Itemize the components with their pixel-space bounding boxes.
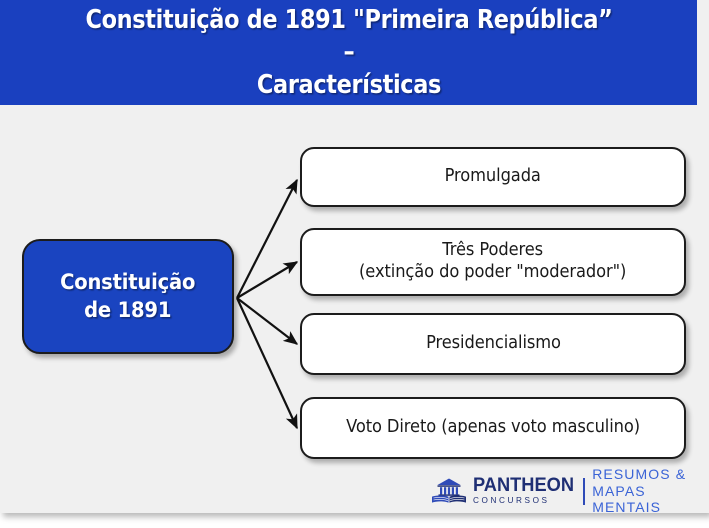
branch-node-label: Três Poderes (extinção do poder "moderad… (352, 240, 634, 284)
header-band: Constituição de 1891 "Primeira República… (0, 0, 697, 105)
mind-map-diagram: Constituição de 1891 Promulgada Três Pod… (0, 105, 697, 513)
slide-canvas: Constituição de 1891 "Primeira República… (0, 0, 709, 513)
branch-node-presidencialismo[interactable]: Presidencialismo (300, 313, 686, 375)
branch-node-promulgada[interactable]: Promulgada (300, 147, 686, 207)
pantheon-wordmark: PANTHEON CONCURSOS (473, 476, 578, 505)
brand-subname: CONCURSOS (473, 497, 578, 505)
pantheon-temple-book-icon (430, 477, 468, 505)
brand-logo: PANTHEON CONCURSOS RESUMOS & MAPAS MENTA… (430, 474, 692, 508)
root-node-label: Constituição de 1891 (60, 269, 195, 324)
branch-node-label: Presidencialismo (418, 333, 568, 355)
brand-tagline-line-2: MAPAS MENTAIS (592, 483, 692, 513)
brand-tagline-line-1: RESUMOS & (592, 466, 692, 483)
brand-name: PANTHEON (473, 476, 574, 495)
branch-node-voto-direto[interactable]: Voto Direto (apenas voto masculino) (300, 397, 686, 459)
connector-arrow-3 (237, 298, 297, 428)
root-node[interactable]: Constituição de 1891 (22, 239, 234, 354)
connector-arrow-2 (237, 298, 297, 344)
branch-node-tres-poderes[interactable]: Três Poderes (extinção do poder "moderad… (300, 228, 686, 296)
branch-node-label: Voto Direto (apenas voto masculino) (339, 417, 648, 439)
branch-node-label: Promulgada (437, 166, 548, 188)
brand-tagline: RESUMOS & MAPAS MENTAIS (592, 466, 692, 513)
page-title: Constituição de 1891 "Primeira República… (85, 4, 613, 102)
logo-divider (583, 478, 585, 505)
